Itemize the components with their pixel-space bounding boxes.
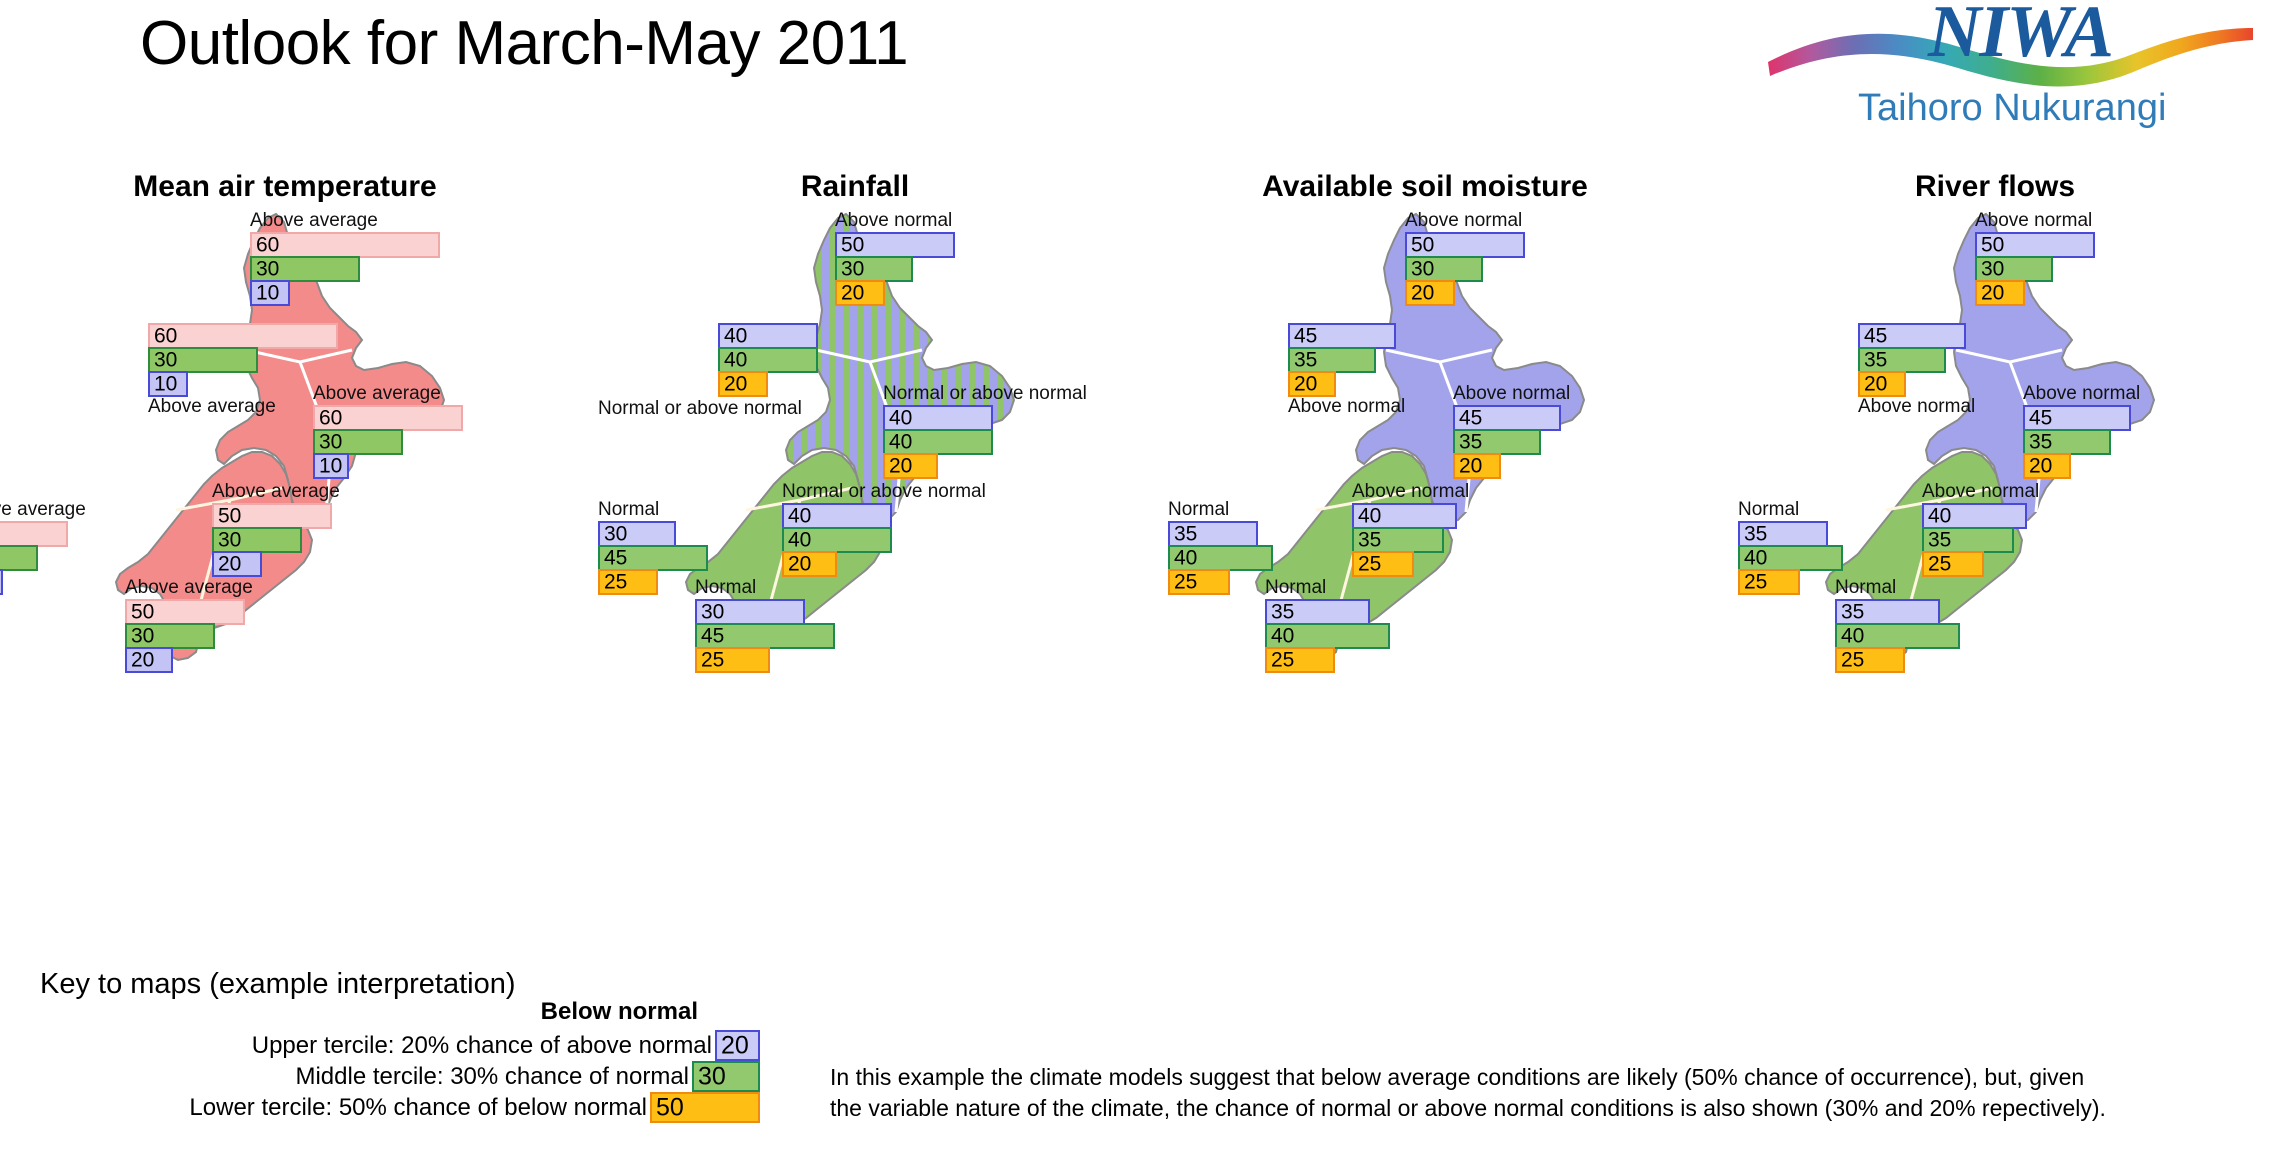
key-row-text: Middle tercile: 30% chance of normal — [132, 1063, 692, 1091]
tercile-bar-above: 50 — [0, 521, 68, 547]
tercile-value: 60 — [154, 326, 177, 347]
tercile-bar-normal: 40 — [1835, 623, 1960, 649]
tercile-bar-above: 45 — [2023, 405, 2131, 431]
tercile-value: 50 — [218, 506, 241, 527]
map-available-soil-moisture: Above normal503020453520Above normalAbov… — [1140, 200, 1710, 670]
tercile-bar-normal: 40 — [718, 347, 818, 373]
outlook-poster: Outlook for March-May 2011 — [0, 0, 2280, 1156]
tercile-bar-below: 20 — [1405, 280, 1455, 306]
tercile-bar-normal: 30 — [148, 347, 258, 373]
bargroup-label: Normal — [1835, 577, 1960, 598]
tercile-bar-above: 50 — [835, 232, 955, 258]
bargroup-mean-air-temperature-west-south-island: Above average503020 — [0, 499, 86, 593]
key-row: Upper tercile: 20% chance of above norma… — [60, 1030, 760, 1061]
tercile-value: 35 — [1864, 350, 1887, 371]
tercile-bar-above: 45 — [1453, 405, 1561, 431]
bargroup-label: Above normal — [835, 210, 955, 231]
tercile-bar-above: 30 — [598, 521, 676, 547]
tercile-value: 10 — [319, 456, 342, 477]
bargroup-label: Above normal — [1288, 396, 1405, 417]
tercile-value: 50 — [1981, 235, 2004, 256]
map-river-flows: Above normal503020453520Above normalAbov… — [1710, 200, 2280, 670]
tercile-value: 20 — [2029, 456, 2052, 477]
tercile-bar-normal: 40 — [1265, 623, 1390, 649]
tercile-value: 25 — [1174, 572, 1197, 593]
key-tercile-value: 20 — [721, 1033, 749, 1058]
tercile-value: 50 — [1411, 235, 1434, 256]
tercile-value: 25 — [604, 572, 627, 593]
tercile-value: 40 — [724, 350, 747, 371]
bargroup-label: Above normal — [1405, 210, 1525, 231]
bargroup-label: Above average — [148, 396, 338, 417]
tercile-value: 25 — [1271, 650, 1294, 671]
panel-title-river-flows: River flows — [1710, 170, 2280, 204]
tercile-bar-below: 10 — [313, 453, 349, 479]
bargroup-river-flows-west-south-island: Normal354025 — [1738, 499, 1843, 593]
panel-title-available-soil-moisture: Available soil moisture — [1140, 170, 1710, 204]
tercile-value: 30 — [841, 259, 864, 280]
bargroup-label: Above normal — [1858, 396, 1975, 417]
tercile-bar-above: 50 — [212, 503, 332, 529]
bargroup-rainfall-west-north-island-caption: Normal or above normal — [598, 398, 802, 420]
key-tercile-bar: 20 — [715, 1030, 760, 1061]
tercile-value: 10 — [154, 374, 177, 395]
tercile-value: 35 — [1358, 530, 1381, 551]
tercile-bar-normal: 30 — [835, 256, 913, 282]
tercile-bar-below: 20 — [1453, 453, 1501, 479]
panel-title-mean-air-temperature: Mean air temperature — [0, 170, 570, 204]
tercile-bar-above: 40 — [1922, 503, 2027, 529]
tercile-value: 45 — [701, 626, 724, 647]
tercile-bar-below: 20 — [1975, 280, 2025, 306]
tercile-value: 30 — [154, 350, 177, 371]
tercile-bar-above: 35 — [1168, 521, 1258, 547]
tercile-value: 35 — [1928, 530, 1951, 551]
tercile-value: 40 — [724, 326, 747, 347]
tercile-value: 40 — [889, 408, 912, 429]
page-title: Outlook for March-May 2011 — [140, 8, 908, 79]
key-row: Middle tercile: 30% chance of normal30 — [60, 1061, 760, 1092]
tercile-bar-above: 50 — [1405, 232, 1525, 258]
niwa-logo-svg: NIWA Taihoro Nukurangi — [1748, 2, 2268, 142]
tercile-bar-normal: 30 — [313, 429, 403, 455]
tercile-value: 40 — [788, 530, 811, 551]
tercile-bar-above: 40 — [1352, 503, 1457, 529]
tercile-bar-normal: 30 — [1405, 256, 1483, 282]
tercile-bar-above: 50 — [1975, 232, 2095, 258]
tercile-bar-below: 20 — [883, 453, 938, 479]
tercile-bar-above: 30 — [695, 599, 805, 625]
tercile-value: 45 — [604, 548, 627, 569]
tercile-value: 25 — [1358, 554, 1381, 575]
bargroup-label: Above average — [0, 499, 86, 520]
tercile-bar-above: 45 — [1858, 323, 1966, 349]
bargroup-river-flows-north-north-island: Above normal503020 — [1975, 210, 2095, 304]
tercile-value: 40 — [1744, 548, 1767, 569]
key-tercile-bar: 30 — [692, 1061, 760, 1092]
bargroup-label: Above average — [125, 577, 253, 598]
tercile-value: 20 — [889, 456, 912, 477]
bargroup-label: Above normal — [1352, 481, 1469, 502]
bargroup-available-soil-moisture-south-east-south-island: Normal354025 — [1265, 577, 1390, 671]
tercile-value: 30 — [701, 602, 724, 623]
tercile-value: 35 — [1294, 350, 1317, 371]
key-tercile-value: 50 — [656, 1095, 684, 1120]
tercile-value: 40 — [889, 432, 912, 453]
map-mean-air-temperature: Above average603010603010Above averageAb… — [0, 200, 570, 670]
tercile-value: 30 — [218, 530, 241, 551]
tercile-bar-below: 25 — [1835, 647, 1905, 673]
tercile-bar-below: 25 — [1265, 647, 1335, 673]
tercile-value: 30 — [1981, 259, 2004, 280]
tercile-value: 30 — [319, 432, 342, 453]
bargroup-available-soil-moisture-west-north-island: 453520Above normal — [1288, 323, 1405, 417]
tercile-value: 20 — [1294, 374, 1317, 395]
tercile-bar-below: 10 — [148, 371, 188, 397]
bargroup-available-soil-moisture-west-south-island: Normal354025 — [1168, 499, 1273, 593]
tercile-bar-normal: 30 — [0, 545, 38, 571]
tercile-value: 60 — [256, 235, 279, 256]
tercile-value: 35 — [1744, 524, 1767, 545]
key-row-text: Upper tercile: 20% chance of above norma… — [155, 1032, 715, 1060]
tercile-value: 20 — [788, 554, 811, 575]
bargroup-available-soil-moisture-north-north-island: Above normal503020 — [1405, 210, 1525, 304]
bargroup-mean-air-temperature-north-north-island: Above average603010 — [250, 210, 440, 304]
tercile-bar-normal: 35 — [1288, 347, 1376, 373]
bargroup-mean-air-temperature-east-north-island: Above average603010 — [313, 383, 463, 477]
tercile-value: 45 — [1864, 326, 1887, 347]
panel-rainfall: RainfallAbove normal503020404020Normal o… — [570, 170, 1140, 670]
tercile-bar-below: 10 — [250, 280, 290, 306]
tercile-bar-below: 20 — [835, 280, 885, 306]
tercile-bar-below: 20 — [0, 569, 3, 595]
bargroup-label: Above normal — [1922, 481, 2039, 502]
key-row: Lower tercile: 50% chance of below norma… — [60, 1092, 760, 1123]
bargroup-rainfall-west-south-island: Normal304525 — [598, 499, 708, 593]
bargroup-rainfall-north-east-south-island: Normal or above normal404020 — [782, 481, 986, 575]
tercile-bar-above: 45 — [1288, 323, 1396, 349]
tercile-bar-below: 20 — [782, 551, 837, 577]
tercile-bar-normal: 45 — [598, 545, 708, 571]
tercile-bar-below: 25 — [1922, 551, 1984, 577]
bargroup-river-flows-west-north-island: 453520Above normal — [1858, 323, 1975, 417]
tercile-bar-normal: 40 — [1168, 545, 1273, 571]
key-title: Below normal — [541, 998, 698, 1026]
key-block: Below normal Upper tercile: 20% chance o… — [60, 1030, 760, 1123]
tercile-value: 35 — [1174, 524, 1197, 545]
tercile-value: 20 — [1411, 283, 1434, 304]
tercile-value: 60 — [319, 408, 342, 429]
tercile-bar-below: 25 — [695, 647, 770, 673]
tercile-bar-below: 20 — [125, 647, 173, 673]
tercile-bar-normal: 35 — [1922, 527, 2014, 553]
logo-wordmark: NIWA — [1927, 2, 2112, 73]
tercile-bar-below: 25 — [1168, 569, 1230, 595]
tercile-bar-normal: 40 — [883, 429, 993, 455]
tercile-value: 50 — [131, 602, 154, 623]
logo-tagline: Taihoro Nukurangi — [1858, 87, 2166, 129]
tercile-bar-above: 60 — [250, 232, 440, 258]
tercile-bar-above: 35 — [1265, 599, 1370, 625]
tercile-value: 10 — [256, 283, 279, 304]
bargroup-label: Normal — [1738, 499, 1843, 520]
panel-mean-air-temperature: Mean air temperatureAbove average6030106… — [0, 170, 570, 670]
tercile-value: 45 — [1459, 408, 1482, 429]
tercile-value: 30 — [1411, 259, 1434, 280]
tercile-value: 40 — [1271, 626, 1294, 647]
bargroup-mean-air-temperature-west-north-island: 603010Above average — [148, 323, 338, 417]
tercile-value: 30 — [131, 626, 154, 647]
bargroup-mean-air-temperature-south-east-south-island: Above average503020 — [125, 577, 253, 671]
panel-title-rainfall: Rainfall — [570, 170, 1140, 204]
bargroup-label: Normal — [598, 499, 708, 520]
key-tercile-bar: 50 — [650, 1092, 760, 1123]
tercile-bar-above: 35 — [1835, 599, 1940, 625]
tercile-bar-above: 60 — [148, 323, 338, 349]
tercile-value: 20 — [1981, 283, 2004, 304]
tercile-bar-normal: 35 — [2023, 429, 2111, 455]
tercile-value: 30 — [256, 259, 279, 280]
tercile-bar-normal: 40 — [782, 527, 892, 553]
tercile-value: 20 — [841, 283, 864, 304]
bargroup-label: Normal — [1265, 577, 1390, 598]
tercile-bar-normal: 30 — [212, 527, 302, 553]
map-rainfall: Above normal503020404020Normal or above … — [570, 200, 1140, 670]
tercile-value: 25 — [1928, 554, 1951, 575]
tercile-value: 20 — [1864, 374, 1887, 395]
tercile-value: 45 — [2029, 408, 2052, 429]
bargroup-label: Above normal — [1975, 210, 2095, 231]
tercile-bar-normal: 30 — [1975, 256, 2053, 282]
tercile-value: 25 — [1744, 572, 1767, 593]
bargroup-label: Above average — [250, 210, 440, 231]
panel-river-flows: River flowsAbove normal503020453520Above… — [1710, 170, 2280, 670]
tercile-value: 40 — [788, 506, 811, 527]
tercile-value: 30 — [604, 524, 627, 545]
tercile-bar-below: 25 — [598, 569, 658, 595]
key-rows: Upper tercile: 20% chance of above norma… — [60, 1030, 760, 1123]
tercile-value: 40 — [1928, 506, 1951, 527]
tercile-value: 40 — [1174, 548, 1197, 569]
tercile-bar-below: 25 — [1738, 569, 1800, 595]
bargroup-label: Normal — [1168, 499, 1273, 520]
bargroup-rainfall-south-east-south-island: Normal304525 — [695, 577, 835, 671]
tercile-value: 40 — [1841, 626, 1864, 647]
bargroup-rainfall-east-north-island: Normal or above normal404020 — [883, 383, 1087, 477]
key-row-text: Lower tercile: 50% chance of below norma… — [90, 1094, 650, 1122]
bargroup-label: Normal — [695, 577, 835, 598]
bargroup-mean-air-temperature-north-east-south-island: Above average503020 — [212, 481, 340, 575]
bargroup-rainfall-west-north-island: 404020 — [718, 323, 818, 395]
tercile-bar-normal: 40 — [1738, 545, 1843, 571]
tercile-bar-normal: 30 — [125, 623, 215, 649]
bargroup-label: Normal or above normal — [598, 398, 802, 419]
tercile-value: 35 — [2029, 432, 2052, 453]
tercile-bar-above: 40 — [883, 405, 993, 431]
tercile-bar-below: 20 — [1858, 371, 1906, 397]
tercile-value: 20 — [1459, 456, 1482, 477]
tercile-value: 35 — [1841, 602, 1864, 623]
bargroup-label: Above average — [212, 481, 340, 502]
tercile-bar-normal: 35 — [1352, 527, 1444, 553]
bargroup-label: Normal or above normal — [883, 383, 1087, 404]
bargroup-label: Above normal — [2023, 383, 2140, 404]
tercile-bar-below: 20 — [212, 551, 262, 577]
key-tercile-value: 30 — [698, 1064, 726, 1089]
niwa-logo: NIWA Taihoro Nukurangi — [1748, 2, 2268, 142]
tercile-bar-normal: 45 — [695, 623, 835, 649]
key-explanation: In this example the climate models sugge… — [830, 1062, 2120, 1124]
tercile-bar-above: 50 — [125, 599, 245, 625]
tercile-bar-normal: 35 — [1858, 347, 1946, 373]
panel-available-soil-moisture: Available soil moistureAbove normal50302… — [1140, 170, 1710, 670]
tercile-bar-above: 40 — [718, 323, 818, 349]
tercile-value: 40 — [1358, 506, 1381, 527]
tercile-bar-below: 25 — [1352, 551, 1414, 577]
tercile-value: 45 — [1294, 326, 1317, 347]
bargroup-river-flows-east-north-island: Above normal453520 — [2023, 383, 2140, 477]
tercile-value: 35 — [1271, 602, 1294, 623]
tercile-bar-below: 20 — [1288, 371, 1336, 397]
bargroup-label: Above average — [313, 383, 463, 404]
key-heading: Key to maps (example interpretation) — [40, 968, 516, 1001]
tercile-value: 25 — [701, 650, 724, 671]
tercile-value: 20 — [724, 374, 747, 395]
tercile-value: 20 — [131, 650, 154, 671]
tercile-bar-below: 20 — [2023, 453, 2071, 479]
bargroup-available-soil-moisture-east-north-island: Above normal453520 — [1453, 383, 1570, 477]
tercile-bar-below: 20 — [718, 371, 768, 397]
tercile-value: 20 — [218, 554, 241, 575]
tercile-bar-above: 60 — [313, 405, 463, 431]
bargroup-label: Above normal — [1453, 383, 1570, 404]
tercile-value: 25 — [1841, 650, 1864, 671]
tercile-value: 50 — [841, 235, 864, 256]
bargroup-river-flows-south-east-south-island: Normal354025 — [1835, 577, 1960, 671]
tercile-value: 35 — [1459, 432, 1482, 453]
bargroup-rainfall-north-north-island: Above normal503020 — [835, 210, 955, 304]
tercile-bar-above: 35 — [1738, 521, 1828, 547]
tercile-bar-above: 40 — [782, 503, 892, 529]
tercile-bar-normal: 30 — [250, 256, 360, 282]
tercile-bar-normal: 35 — [1453, 429, 1541, 455]
bargroup-river-flows-north-east-south-island: Above normal403525 — [1922, 481, 2039, 575]
bargroup-available-soil-moisture-north-east-south-island: Above normal403525 — [1352, 481, 1469, 575]
bargroup-label: Normal or above normal — [782, 481, 986, 502]
